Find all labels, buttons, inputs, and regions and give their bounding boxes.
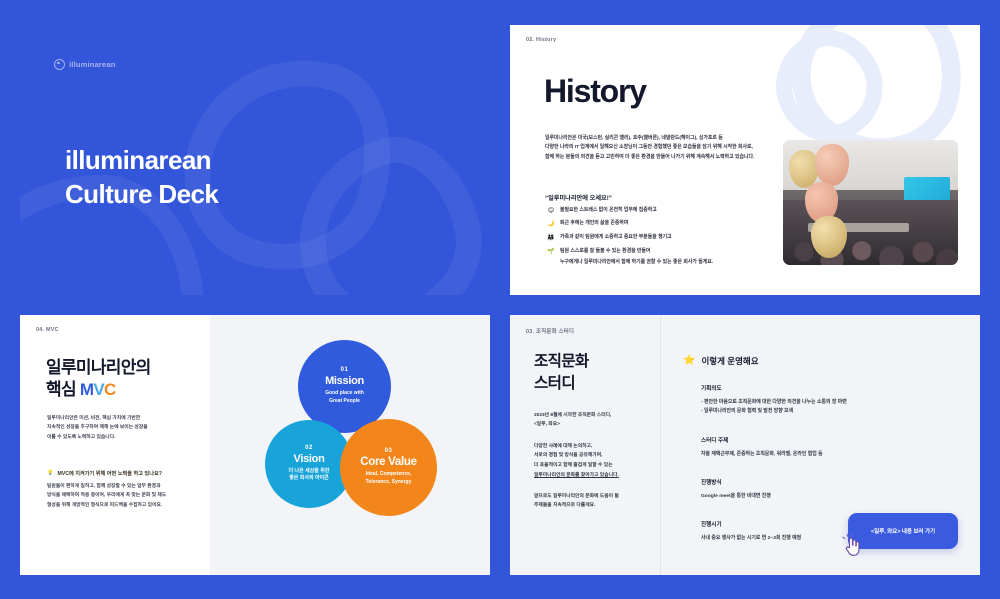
slide-mvc[interactable]: 04. MVC 일루미나리안의 핵심 MVC 일루미나리안은 미션, 비전, 핵… xyxy=(20,315,490,575)
slide-tag-study: 03. 조직문화 스터디 xyxy=(526,327,574,335)
study-footer: 앞으로도 일루미나리안의 문화에 도움이 될 주제들을 지속적으로 다룰게요. xyxy=(534,492,656,511)
slide-tag-mvc: 04. MVC xyxy=(36,327,59,333)
study-section: 기획의도 - 편안한 마음으로 조직문화에 대한 다양한 의견을 나누는 소통의… xyxy=(701,384,951,416)
history-quote: “일루미나리안에 오세요!” xyxy=(545,193,612,202)
mvc-letter-c: C xyxy=(104,380,116,399)
logo-mark-icon xyxy=(54,59,65,70)
study-body-text: 다양한 사례에 대해 논의하고, 서로의 경험 및 방식을 공유해가며, 더 효… xyxy=(534,444,613,469)
study-left-column: 03. 조직문화 스터디 조직문화 스터디 2023년 8월에 시작한 조직문화… xyxy=(510,315,661,575)
study-section-heading: 진행방식 xyxy=(701,478,951,486)
mvc-circle-desc: Good place with Great People xyxy=(325,390,364,405)
event-photo xyxy=(783,140,958,265)
mvc-circle-name: Core Value xyxy=(360,456,416,468)
pointing-hand-cursor-icon xyxy=(842,533,862,557)
study-body: 다양한 사례에 대해 논의하고, 서로의 경험 및 방식을 공유해가며, 더 효… xyxy=(534,442,656,481)
list-item: 🌙 퇴근 후에는 개인의 삶을 존중하며 xyxy=(547,221,807,228)
study-section-lines: Google meet을 통한 비대면 진행 xyxy=(701,492,951,501)
star-icon: ⭐ xyxy=(683,355,695,366)
slide-deck-grid: illuminarean illuminarean Culture Deck 0… xyxy=(0,0,1000,599)
study-section-heading: 기획의도 xyxy=(701,384,951,392)
history-bullet-tail: 누구에게나 일루미나리안에서 함께 하기를 권할 수 있는 좋은 회사가 될게요… xyxy=(560,260,807,266)
list-item: 😊 불필요한 스트레스 없이 온전히 업무에 집중하고 xyxy=(547,208,807,215)
seedling-icon: 🌱 xyxy=(547,249,555,256)
list-item-label: 가족과 같이 팀원에게 소중하고 중요한 부분들을 챙기고 xyxy=(560,235,672,241)
mvc-answer: 팀원들이 편하게 일하고, 함께 성장할 수 있는 업무 환경과 방식을 채택하… xyxy=(47,482,212,511)
list-item-label: 불필요한 스트레스 없이 온전히 업무에 집중하고 xyxy=(560,208,657,214)
study-subtitle: 2023년 8월에 시작한 조직문화 스터디, <일루, 와요> xyxy=(534,411,654,429)
mvc-title-line2-prefix: 핵심 xyxy=(46,380,80,399)
mvc-letter-m: M xyxy=(80,380,93,399)
moon-icon: 🌙 xyxy=(547,221,555,228)
cover-title: illuminarean Culture Deck xyxy=(65,143,218,212)
mvc-circle-core-value[interactable]: 03 Core Value Ideal, Competence, Toleran… xyxy=(340,419,437,516)
mvc-paragraph: 일루미나리안은 미션, 비전, 핵심 가치에 기반한 지속적인 성장을 추구하며… xyxy=(47,414,197,443)
slide-tag-history: 02. History xyxy=(526,37,556,43)
smiley-icon: 😊 xyxy=(547,208,555,215)
list-item-label: 퇴근 후에는 개인의 삶을 존중하며 xyxy=(560,221,628,227)
mvc-diagram: 01 Mission Good place with Great People … xyxy=(210,315,490,575)
slide-culture-study[interactable]: 03. 조직문화 스터디 조직문화 스터디 2023년 8월에 시작한 조직문화… xyxy=(510,315,980,575)
mvc-question-label: MVC에 지켜가기 위해 어떤 노력을 하고 있나요? xyxy=(57,470,161,477)
balloon-icon xyxy=(789,150,819,188)
study-right-heading-label: 이렇게 운영해요 xyxy=(701,355,758,367)
mvc-circle-desc: 더 나은 세상을 위한 좋은 회사의 아이콘 xyxy=(289,468,330,483)
study-section-lines: - 편안한 마음으로 조직문화에 대한 다양한 의견을 나누는 소통의 장 마련… xyxy=(701,398,951,416)
mvc-title: 일루미나리안의 핵심 MVC xyxy=(46,357,151,403)
study-right-heading: ⭐ 이렇게 운영해요 xyxy=(683,355,759,367)
cta-button[interactable]: <일루, 와요> 내용 보러 가기 xyxy=(848,513,958,549)
history-bullet-list: 😊 불필요한 스트레스 없이 온전히 업무에 집중하고 🌙 퇴근 후에는 개인의… xyxy=(547,208,807,267)
mvc-circle-name: Vision xyxy=(293,453,324,465)
list-item-label: 팀원 스스로를 잘 돌볼 수 있는 환경을 만들어 xyxy=(560,249,651,255)
slide-cover[interactable]: illuminarean illuminarean Culture Deck xyxy=(20,25,490,295)
mvc-circle-number: 01 xyxy=(341,367,349,373)
mvc-left-column: 04. MVC 일루미나리안의 핵심 MVC 일루미나리안은 미션, 비전, 핵… xyxy=(20,315,210,575)
mvc-letter-v: V xyxy=(93,380,104,399)
logo-wordmark: illuminarean xyxy=(69,60,116,69)
mvc-circle-name: Mission xyxy=(325,375,364,387)
balloon-icon xyxy=(811,216,847,258)
mvc-title-line1: 일루미나리안의 xyxy=(46,358,151,377)
study-section-heading: 스터디 주제 xyxy=(701,436,951,444)
mvc-circle-desc: Ideal, Competence, Tolerance, Synergy xyxy=(366,471,412,486)
study-body-link[interactable]: 일루미나리안의 문화를 찾아가고 있습니다. xyxy=(534,473,619,478)
mvc-circle-number: 03 xyxy=(385,448,393,454)
list-item: 🌱 팀원 스스로를 잘 돌볼 수 있는 환경을 만들어 xyxy=(547,249,807,256)
family-icon: 👨‍👩‍👧 xyxy=(547,235,555,242)
brand-logo: illuminarean xyxy=(54,59,116,70)
history-paragraph: 일루미나리안은 미국(보스턴, 실리콘 밸리), 호주(멜버른), 네덜란드(헤… xyxy=(545,134,803,163)
slide-history[interactable]: 02. History History 일루미나리안은 미국(보스턴, 실리콘 … xyxy=(510,25,980,295)
balloon-icon xyxy=(815,144,849,186)
study-section: 진행방식 Google meet을 통한 비대면 진행 xyxy=(701,478,951,501)
mvc-circle-number: 02 xyxy=(305,445,313,451)
lightbulb-icon: 💡 xyxy=(47,470,53,476)
page-title: History xyxy=(544,73,646,110)
study-section: 스터디 주제 자율 재택근무제, 존중하는 조직문화, 워라밸, 온라인 협업 … xyxy=(701,436,951,459)
study-section-lines: 자율 재택근무제, 존중하는 조직문화, 워라밸, 온라인 협업 등 xyxy=(701,450,951,459)
mvc-circle-mission[interactable]: 01 Mission Good place with Great People xyxy=(298,340,391,433)
list-item: 👨‍👩‍👧 가족과 같이 팀원에게 소중하고 중요한 부분들을 챙기고 xyxy=(547,235,807,242)
mvc-question: 💡 MVC에 지켜가기 위해 어떤 노력을 하고 있나요? xyxy=(47,470,162,477)
study-right-column: ⭐ 이렇게 운영해요 기획의도 - 편안한 마음으로 조직문화에 대한 다양한 … xyxy=(661,315,980,575)
study-title: 조직문화 스터디 xyxy=(534,351,589,395)
